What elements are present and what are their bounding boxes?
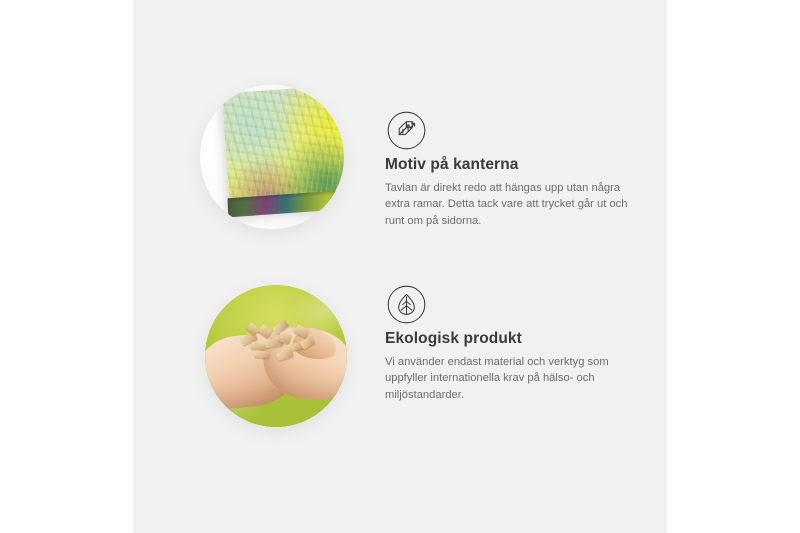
feature-text-canvas-edges: Motiv på kanterna Tavlan är direkt redo … bbox=[385, 156, 635, 229]
canvas-wrapped-edge bbox=[228, 190, 344, 218]
wrapped-canvas-edge-icon bbox=[387, 111, 426, 150]
wood-chips-pile bbox=[239, 321, 319, 365]
feature-description: Tavlan är direkt redo att hängas upp uta… bbox=[385, 180, 635, 230]
leaf-icon bbox=[387, 285, 426, 324]
canvas-print-artwork bbox=[222, 85, 344, 215]
feature-text-eco-product: Ekologisk produkt Vi använder endast mat… bbox=[385, 330, 635, 403]
product-feature-infographic: Motiv på kanterna Tavlan är direkt redo … bbox=[0, 0, 800, 533]
canvas-print-photo bbox=[200, 85, 344, 229]
feature-title: Motiv på kanterna bbox=[385, 156, 635, 175]
feature-title: Ekologisk produkt bbox=[385, 330, 635, 349]
feature-description: Vi använder endast material och verktyg … bbox=[385, 354, 635, 404]
eco-hands-photo bbox=[205, 285, 347, 427]
content-panel: Motiv på kanterna Tavlan är direkt redo … bbox=[133, 0, 667, 533]
